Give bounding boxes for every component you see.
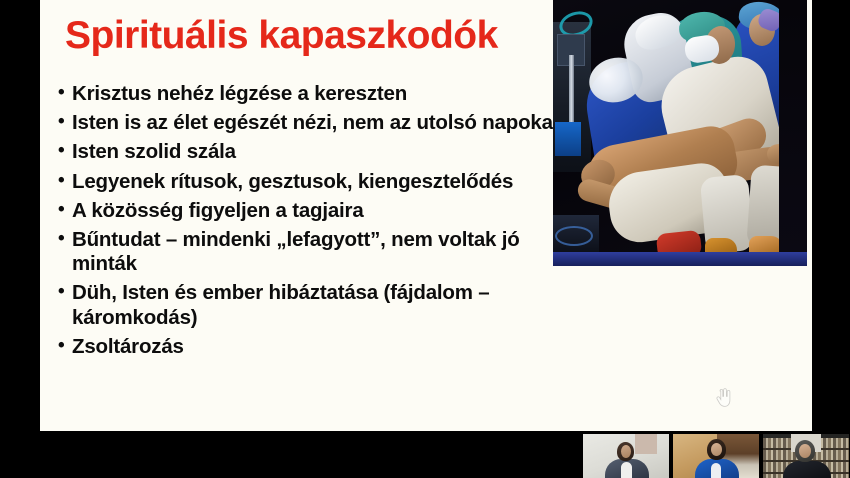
participant-video-3[interactable]: [763, 434, 849, 478]
slide-canvas: Spirituális kapaszkodók • Krisztus nehéz…: [40, 0, 812, 431]
bullet-text: Isten is az élet egészét nézi, nem az ut…: [72, 111, 570, 135]
bullet-text: A közösség figyeljen a tagjaira: [72, 199, 570, 223]
bullet-text: Isten szolid szála: [72, 140, 570, 164]
presentation-screen: Spirituális kapaszkodók • Krisztus nehéz…: [0, 0, 850, 478]
bullet-item: • Legyenek rítusok, gesztusok, kiengeszt…: [58, 170, 570, 194]
bullet-marker-icon: •: [58, 281, 71, 304]
participant-video-strip: [583, 434, 850, 478]
deposition-artwork-photo: [553, 0, 807, 266]
slide-title: Spirituális kapaszkodók: [65, 14, 498, 58]
bullet-marker-icon: •: [58, 228, 71, 251]
bullet-text: Düh, Isten és ember hibáztatása (fájdalo…: [72, 281, 570, 329]
bullet-item: • Isten is az élet egészét nézi, nem az …: [58, 111, 570, 135]
bullet-marker-icon: •: [58, 140, 71, 163]
bullet-marker-icon: •: [58, 82, 71, 105]
bullet-item: • Düh, Isten és ember hibáztatása (fájda…: [58, 281, 570, 329]
bullet-marker-icon: •: [58, 111, 71, 134]
hand-pointer-cursor: [714, 388, 732, 408]
bullet-text: Legyenek rítusok, gesztusok, kiengesztel…: [72, 170, 570, 194]
bullet-item: • Bűntudat – mindenki „lefagyott”, nem v…: [58, 228, 570, 276]
participant-video-1[interactable]: [583, 434, 669, 478]
participant-video-2[interactable]: [673, 434, 759, 478]
bullet-text: Zsoltározás: [72, 335, 570, 359]
slide-image: [553, 0, 807, 266]
bullet-item: • Zsoltározás: [58, 335, 570, 359]
slide-bullet-list: • Krisztus nehéz légzése a kereszten • I…: [58, 82, 570, 364]
bullet-item: • Isten szolid szála: [58, 140, 570, 164]
bullet-item: • A közösség figyeljen a tagjaira: [58, 199, 570, 223]
bullet-marker-icon: •: [58, 170, 71, 193]
bullet-text: Bűntudat – mindenki „lefagyott”, nem vol…: [72, 228, 570, 276]
bullet-marker-icon: •: [58, 335, 71, 358]
bullet-text: Krisztus nehéz légzése a kereszten: [72, 82, 570, 106]
bullet-marker-icon: •: [58, 199, 71, 222]
bullet-item: • Krisztus nehéz légzése a kereszten: [58, 82, 570, 106]
